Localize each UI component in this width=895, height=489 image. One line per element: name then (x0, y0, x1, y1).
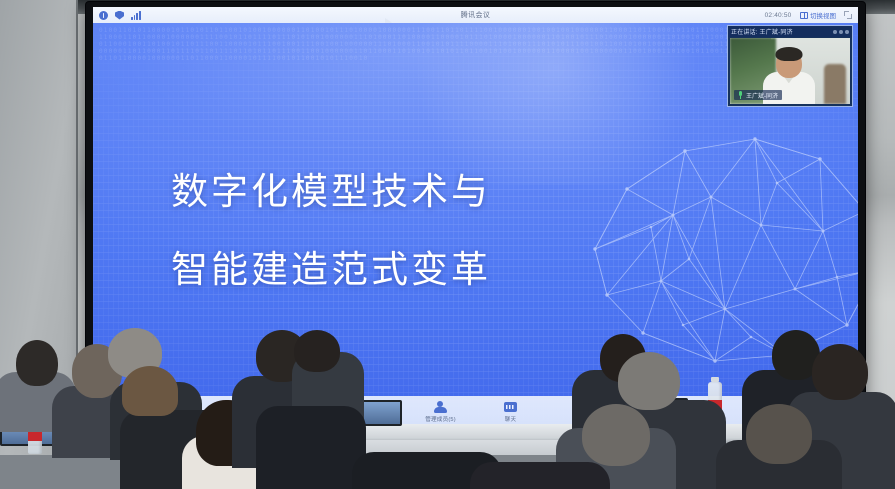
network-mesh-graphic (565, 119, 858, 369)
slide-title: 数字化模型技术与 智能建造范式变革 (171, 153, 491, 309)
meeting-timer: 02:40:50 (765, 12, 792, 19)
audience-person-head (746, 404, 812, 464)
info-icon[interactable] (99, 11, 108, 20)
chat-icon (504, 401, 517, 414)
switch-view-label: 切换视图 (810, 10, 836, 20)
audience-person-hat (122, 366, 178, 416)
pip-video-frame: 王广斌-同济 (730, 38, 850, 104)
meeting-title-bar: 腾讯会议 02:40:50 切换视图 (93, 7, 858, 23)
audience-person-head (618, 352, 680, 410)
shield-icon[interactable] (115, 11, 124, 20)
slide-title-line-2: 智能建造范式变革 (171, 231, 491, 309)
pip-speaking-label: 正在讲话: 王广斌-同济 (731, 27, 793, 36)
toolbar-label-members: 管理成员(5) (425, 415, 456, 423)
audience-person-head (16, 340, 58, 386)
signal-icon[interactable] (131, 11, 141, 20)
audience-person-head (812, 344, 868, 400)
toolbar-label-chat: 聊天 (505, 415, 517, 423)
pip-speaking-banner: 正在讲话: 王广斌-同济 (728, 26, 852, 37)
switch-view-button[interactable]: 切换视图 (800, 10, 837, 20)
microphone-icon (738, 91, 743, 99)
members-icon (434, 401, 447, 414)
header-right-controls: 02:40:50 切换视图 (765, 10, 852, 20)
slide-title-line-1: 数字化模型技术与 (171, 153, 491, 231)
meeting-app-window: 腾讯会议 02:40:50 切换视图 0100110101 (93, 7, 858, 428)
header-status-icons (99, 11, 141, 20)
audience-person (256, 406, 366, 489)
pip-more-dots-icon[interactable] (833, 30, 849, 34)
audience-person-head (294, 330, 340, 372)
toolbar-button-members[interactable]: 管理成员(5) (418, 401, 464, 424)
pip-name-badge: 王广斌-同济 (734, 90, 782, 100)
toolbar-button-chat[interactable]: 聊天 (488, 401, 534, 424)
grid-view-icon (800, 12, 808, 19)
pip-chair (824, 64, 846, 104)
meeting-title: 腾讯会议 (93, 10, 858, 20)
audience-person (470, 462, 610, 489)
display-screen-bezel: 腾讯会议 02:40:50 切换视图 0100110101 (86, 2, 865, 434)
speaker-pip-video[interactable]: 正在讲话: 王广斌-同济 王广斌-同济 (727, 25, 853, 107)
pip-speaker-hair (775, 47, 802, 61)
audience-person-head (582, 404, 650, 466)
pip-name-label: 王广斌-同济 (746, 91, 778, 100)
conference-room-photo: 腾讯会议 02:40:50 切换视图 0100110101 (0, 0, 895, 489)
display-screen-surface: 腾讯会议 02:40:50 切换视图 0100110101 (93, 7, 858, 428)
fullscreen-icon[interactable] (844, 11, 852, 19)
